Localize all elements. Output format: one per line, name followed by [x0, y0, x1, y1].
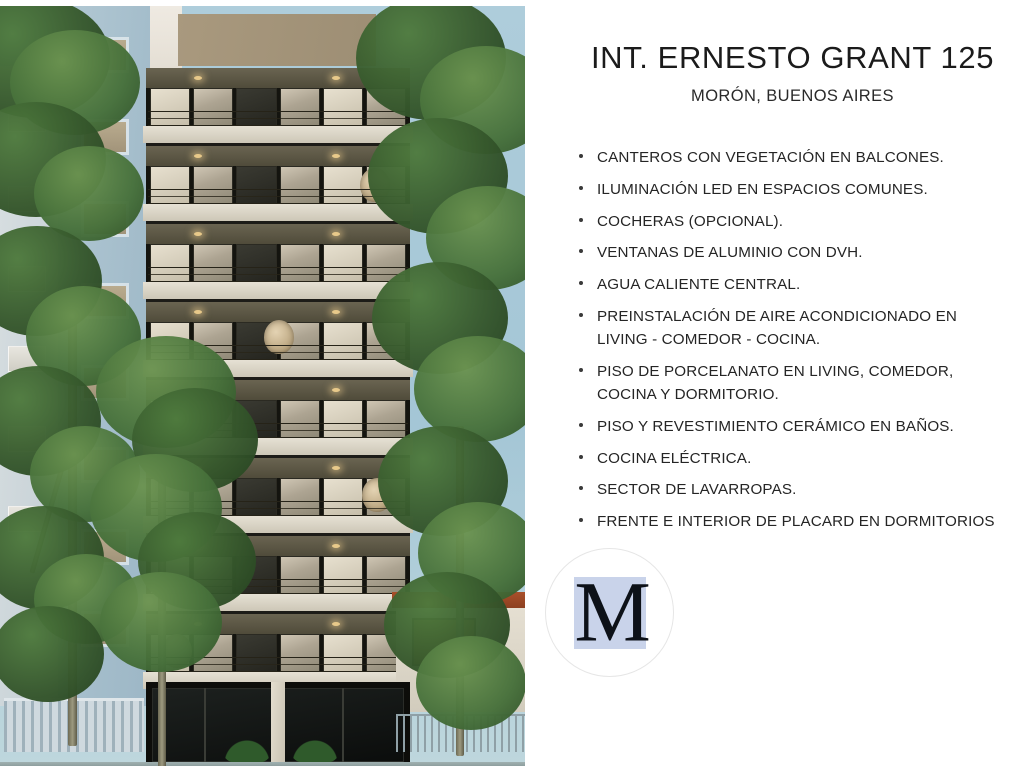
- listing-page: INT. ERNESTO GRANT 125 MORÓN, BUENOS AIR…: [0, 0, 1024, 768]
- building-rendering: [0, 0, 525, 768]
- rooftop-volume: [178, 14, 376, 66]
- list-item: AGUA CALIENTE CENTRAL.: [573, 273, 1012, 296]
- building-floor: [146, 224, 410, 299]
- brand-logo: M: [545, 548, 674, 677]
- building-floor: [146, 68, 410, 143]
- list-item: PREINSTALACIÓN DE AIRE ACONDICIONADO EN …: [573, 305, 1012, 352]
- house-roof: [392, 592, 525, 608]
- list-item: FRENTE E INTERIOR DE PLACARD EN DORMITOR…: [573, 510, 1012, 533]
- list-item: PISO DE PORCELANATO EN LIVING, COMEDOR, …: [573, 360, 1012, 407]
- list-item: PISO Y REVESTIMIENTO CERÁMICO EN BAÑOS.: [573, 415, 1012, 438]
- list-item: COCHERAS (OPCIONAL).: [573, 210, 1012, 233]
- front-fence-right: [396, 714, 525, 752]
- list-item: VENTANAS DE ALUMINIO CON DVH.: [573, 241, 1012, 264]
- features-list: CANTEROS CON VEGETACIÓN EN BALCONES. ILU…: [573, 146, 1012, 533]
- rendering-canvas: [0, 6, 525, 766]
- page-title: INT. ERNESTO GRANT 125: [573, 40, 1012, 76]
- front-fence-left: [4, 698, 144, 752]
- list-item: SECTOR DE LAVARROPAS.: [573, 478, 1012, 501]
- background-building: [0, 66, 62, 706]
- building-floor: [146, 536, 410, 611]
- building-floor: [146, 146, 410, 221]
- list-item: CANTEROS CON VEGETACIÓN EN BALCONES.: [573, 146, 1012, 169]
- logo-square: M: [574, 577, 646, 649]
- building-facade: [146, 68, 410, 766]
- sidewalk: [0, 762, 525, 766]
- neighboring-house: [396, 592, 525, 712]
- listing-details: INT. ERNESTO GRANT 125 MORÓN, BUENOS AIR…: [525, 0, 1024, 768]
- building-floor: [146, 302, 410, 377]
- building-floor: [146, 458, 410, 533]
- entrance-column: [271, 682, 285, 766]
- list-item: COCINA ELÉCTRICA.: [573, 447, 1012, 470]
- ground-floor-lobby: [146, 682, 410, 766]
- building-floor: [146, 380, 410, 455]
- house-door: [412, 618, 476, 666]
- logo-monogram: M: [574, 568, 650, 654]
- list-item: ILUMINACIÓN LED EN ESPACIOS COMUNES.: [573, 178, 1012, 201]
- building-floor: [146, 614, 410, 689]
- adjacent-building: [58, 6, 150, 706]
- location-subtitle: MORÓN, BUENOS AIRES: [573, 87, 1012, 106]
